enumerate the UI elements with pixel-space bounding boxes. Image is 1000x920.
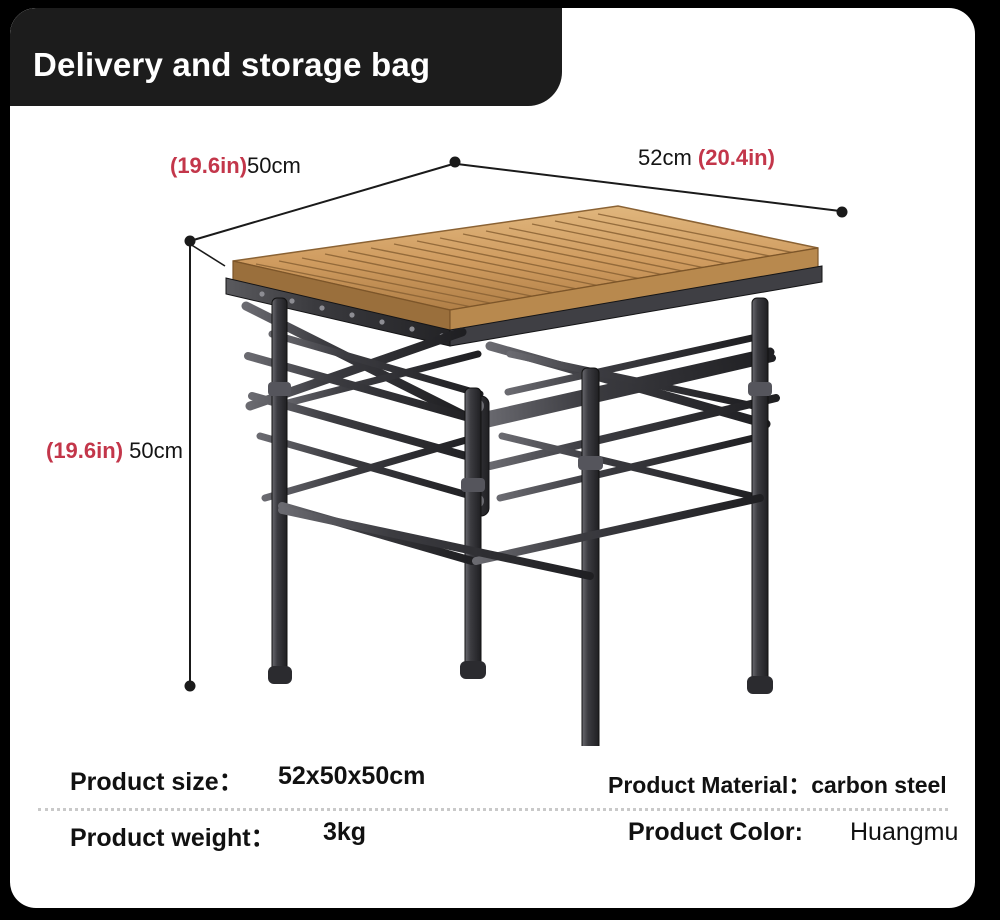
dimension-label-depth: (19.6in)50cm	[170, 153, 301, 179]
product-diagram	[10, 106, 975, 746]
spec-product-size-value: 52x50x50cm	[278, 762, 425, 791]
width-inches: (20.4in)	[698, 145, 775, 170]
spec-product-material: Product Material：carbon steel	[608, 766, 947, 800]
dimension-label-width: 52cm (20.4in)	[638, 145, 775, 171]
page-title: Delivery and storage bag	[33, 46, 430, 84]
width-cm: 52cm	[638, 145, 692, 170]
table-top	[226, 206, 822, 346]
depth-inches: (19.6in)	[170, 153, 247, 178]
spec-product-color-value: Huangmu	[850, 818, 958, 847]
spec-product-weight-label: Product weight：	[70, 818, 276, 854]
spec-product-color-label: Product Color:	[628, 818, 803, 847]
spec-product-size-label: Product size：	[70, 762, 244, 798]
height-inches: (19.6in)	[46, 438, 123, 463]
spec-product-weight-value: 3kg	[323, 818, 366, 847]
spec-divider	[38, 808, 948, 811]
screenshot-frame: Delivery and storage bag	[0, 0, 1000, 920]
spec-table: Product size： 52x50x50cm Product Materia…	[38, 756, 948, 876]
depth-cm: 50cm	[247, 153, 301, 178]
lower-supports	[282, 498, 760, 576]
product-info-card: Delivery and storage bag	[10, 8, 975, 908]
height-cm: 50cm	[129, 438, 183, 463]
dimension-label-height: (19.6in) 50cm	[46, 438, 183, 464]
header-band: Delivery and storage bag	[10, 8, 562, 106]
